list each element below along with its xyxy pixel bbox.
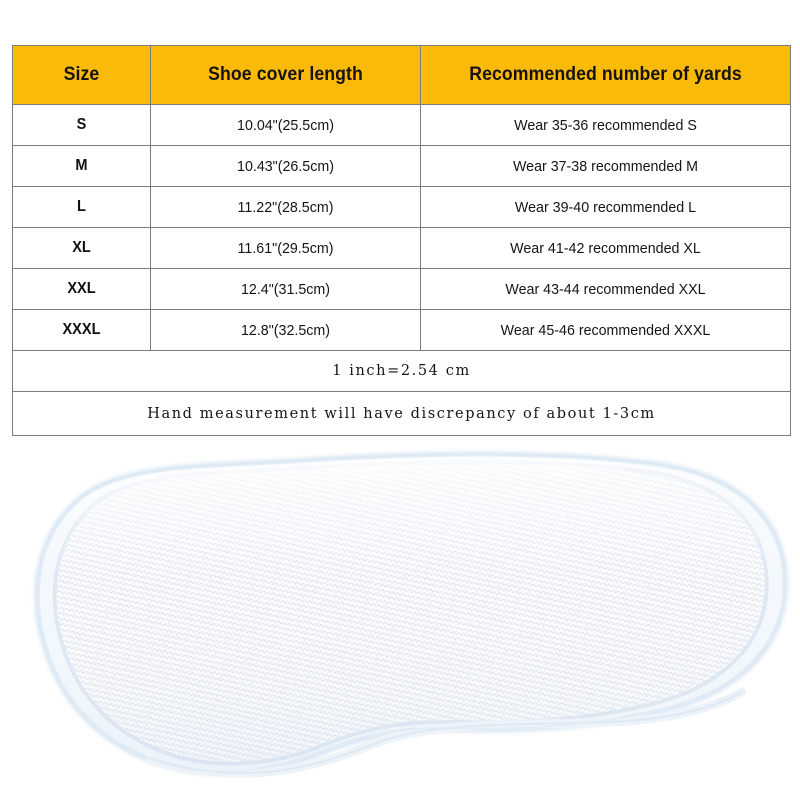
length-value: 12.4"(31.5cm): [158, 281, 414, 298]
column-header-size: Size: [13, 46, 151, 105]
cell-note-conversion: 1 inch=2.54 cm: [13, 351, 791, 392]
cell-length: 11.61"(29.5cm): [151, 228, 421, 269]
cell-size: S: [13, 105, 151, 146]
column-header-shoe-cover-length-label: Shoe cover length: [160, 64, 410, 86]
table-note-row-discrepancy: Hand measurement will have discrepancy o…: [13, 392, 791, 436]
length-value: 11.22"(28.5cm): [158, 199, 414, 216]
cell-length: 11.22"(28.5cm): [151, 187, 421, 228]
table-row: M 10.43"(26.5cm) Wear 37-38 recommended …: [13, 146, 791, 187]
recommendation-value: Wear 39-40 recommended L: [430, 199, 781, 216]
length-value: 10.43"(26.5cm): [158, 158, 414, 175]
cell-length: 12.8"(32.5cm): [151, 310, 421, 351]
table-header-row: Size Shoe cover length Recommended numbe…: [13, 46, 791, 105]
column-header-recommended-yards: Recommended number of yards: [421, 46, 791, 105]
recommendation-value: Wear 45-46 recommended XXXL: [430, 322, 781, 339]
recommendation-value: Wear 35-36 recommended S: [430, 117, 781, 134]
length-value: 10.04"(25.5cm): [158, 117, 414, 134]
shoe-sole-illustration: [0, 440, 800, 800]
cell-recommendation: Wear 35-36 recommended S: [421, 105, 791, 146]
recommendation-value: Wear 41-42 recommended XL: [430, 240, 781, 257]
table-note-row-conversion: 1 inch=2.54 cm: [13, 351, 791, 392]
length-value: 12.8"(32.5cm): [158, 322, 414, 339]
note-discrepancy-text: Hand measurement will have discrepancy o…: [13, 406, 790, 422]
product-photo-shoe-sole: [0, 440, 800, 800]
table-row: XXL 12.4"(31.5cm) Wear 43-44 recommended…: [13, 269, 791, 310]
cell-length: 10.04"(25.5cm): [151, 105, 421, 146]
cell-size: XXXL: [13, 310, 151, 351]
size-value: S: [17, 116, 146, 134]
size-chart-table: Size Shoe cover length Recommended numbe…: [12, 45, 791, 436]
column-header-size-label: Size: [18, 64, 145, 86]
cell-recommendation: Wear 45-46 recommended XXXL: [421, 310, 791, 351]
cell-length: 12.4"(31.5cm): [151, 269, 421, 310]
table-row: L 11.22"(28.5cm) Wear 39-40 recommended …: [13, 187, 791, 228]
recommendation-value: Wear 43-44 recommended XXL: [430, 281, 781, 298]
cell-size: L: [13, 187, 151, 228]
cell-recommendation: Wear 41-42 recommended XL: [421, 228, 791, 269]
size-value: M: [17, 157, 146, 175]
table-row: XXXL 12.8"(32.5cm) Wear 45-46 recommende…: [13, 310, 791, 351]
cell-recommendation: Wear 39-40 recommended L: [421, 187, 791, 228]
table-row: XL 11.61"(29.5cm) Wear 41-42 recommended…: [13, 228, 791, 269]
size-value: XXXL: [17, 321, 146, 339]
cell-recommendation: Wear 43-44 recommended XXL: [421, 269, 791, 310]
cell-size: XXL: [13, 269, 151, 310]
size-value: XXL: [17, 280, 146, 298]
size-value: L: [17, 198, 146, 216]
table-row: S 10.04"(25.5cm) Wear 35-36 recommended …: [13, 105, 791, 146]
cell-recommendation: Wear 37-38 recommended M: [421, 146, 791, 187]
cell-size: M: [13, 146, 151, 187]
size-value: XL: [17, 239, 146, 257]
recommendation-value: Wear 37-38 recommended M: [430, 158, 781, 175]
size-chart-container: Size Shoe cover length Recommended numbe…: [12, 45, 790, 436]
cell-size: XL: [13, 228, 151, 269]
cell-length: 10.43"(26.5cm): [151, 146, 421, 187]
note-conversion-text: 1 inch=2.54 cm: [13, 363, 790, 379]
column-header-shoe-cover-length: Shoe cover length: [151, 46, 421, 105]
column-header-recommended-yards-label: Recommended number of yards: [434, 64, 777, 86]
length-value: 11.61"(29.5cm): [158, 240, 414, 257]
cell-note-discrepancy: Hand measurement will have discrepancy o…: [13, 392, 791, 436]
